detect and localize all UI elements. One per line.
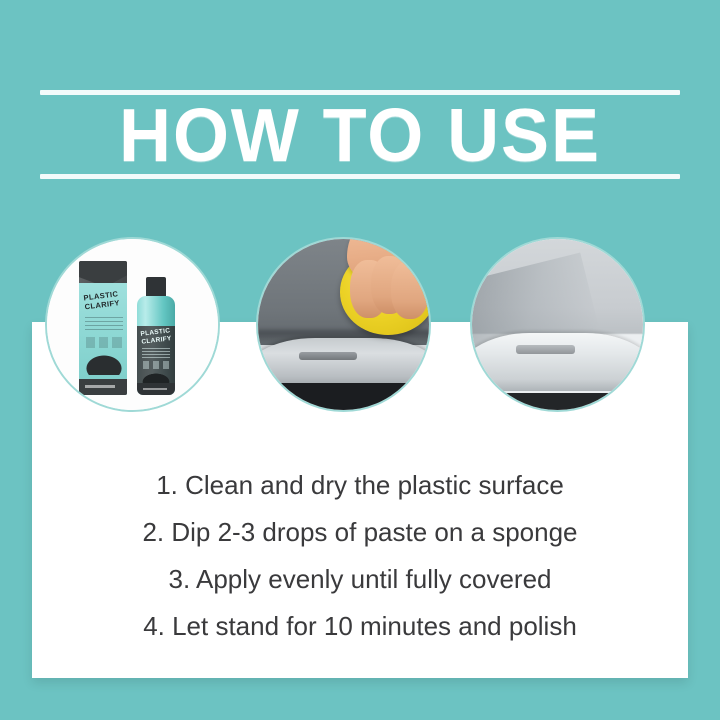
- step-item: 4. Let stand for 10 minutes and polish: [32, 603, 688, 650]
- title-divider-bottom: [40, 174, 680, 179]
- poster-root: HOW TO USE PLASTIC CLARIFY: [0, 0, 720, 720]
- box-brand-line1: PLASTIC: [83, 289, 119, 302]
- finger: [350, 260, 388, 318]
- steps-list: 1. Clean and dry the plastic surface 2. …: [32, 462, 688, 650]
- page-title: HOW TO USE: [14, 96, 705, 174]
- step-item: 1. Clean and dry the plastic surface: [32, 462, 688, 509]
- step-item: 3. Apply evenly until fully covered: [32, 556, 688, 603]
- box-brand-label: PLASTIC CLARIFY: [83, 289, 125, 312]
- finger: [391, 261, 429, 319]
- hand: [347, 237, 431, 287]
- finger: [371, 256, 409, 314]
- bottle-cap: [146, 277, 166, 297]
- box-brand-line2: CLARIFY: [84, 298, 120, 311]
- box-top-band: [79, 261, 127, 287]
- step-item: 2. Dip 2-3 drops of paste on a sponge: [32, 509, 688, 556]
